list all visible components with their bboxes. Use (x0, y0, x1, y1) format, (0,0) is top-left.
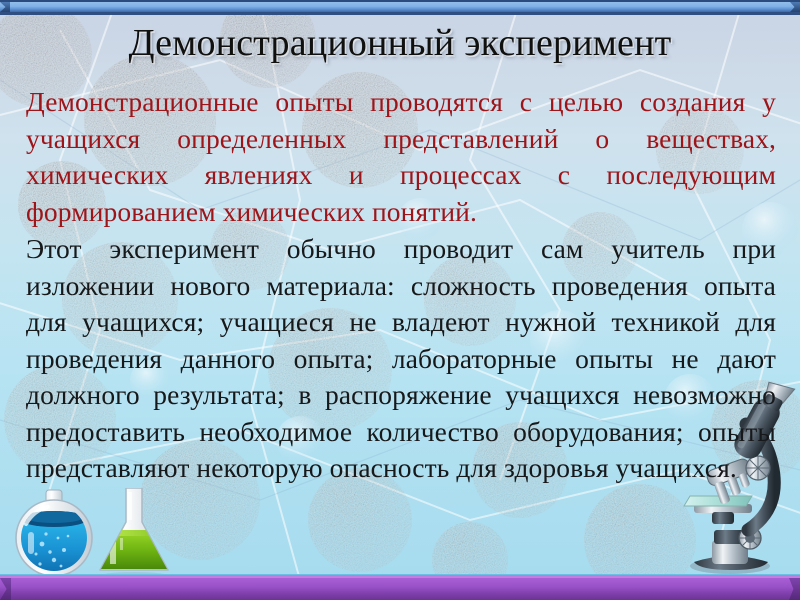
paragraph-dark: Этот эксперимент обычно проводит сам учи… (26, 231, 776, 487)
bottom-decorative-bar (0, 576, 800, 600)
slide-body: Демонстрационные опыты проводятся с цель… (26, 84, 776, 487)
conical-flask (96, 488, 176, 580)
page-title: Демонстрационный эксперимент (0, 21, 800, 65)
flask-illustration-group (6, 488, 196, 580)
round-flask (16, 490, 92, 580)
paragraph-red: Демонстрационные опыты проводятся с цель… (26, 84, 776, 230)
presentation-slide: Демонстрационный эксперимент Демонстраци… (0, 0, 800, 600)
top-decorative-bar (0, 0, 800, 15)
